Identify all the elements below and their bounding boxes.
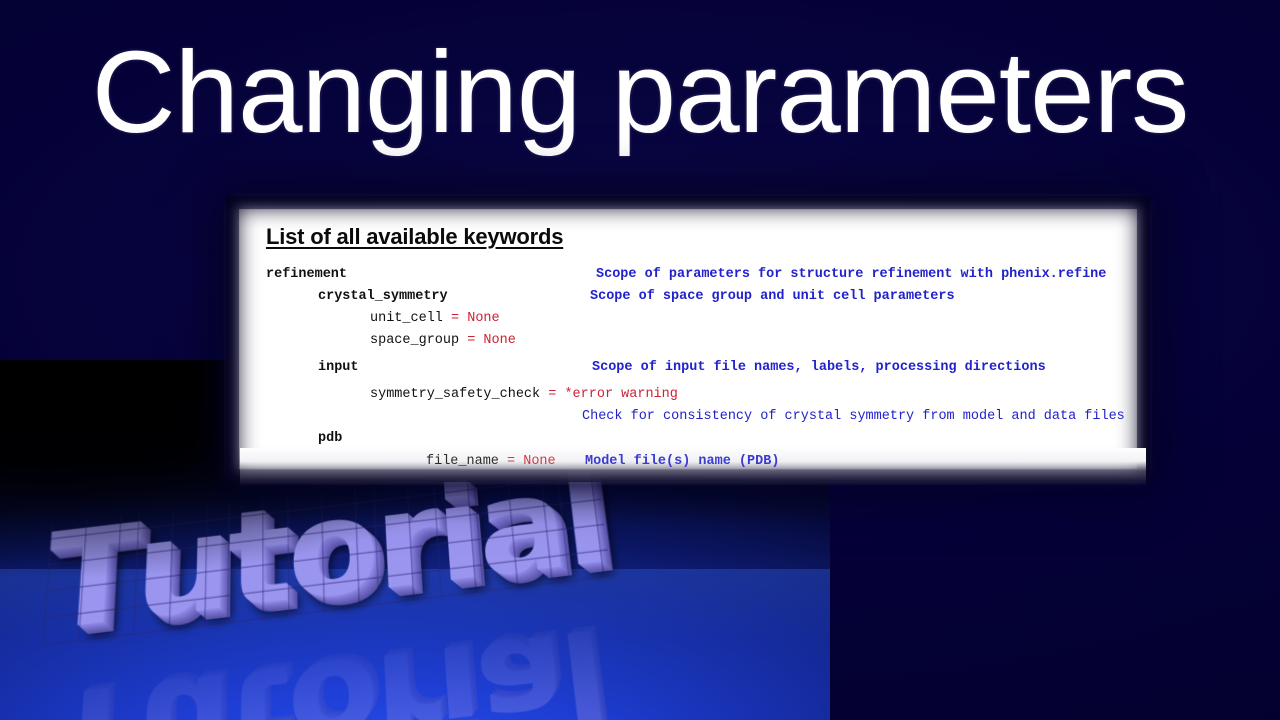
slide-canvas: Changing parameters Tutorial Tutorial Li… xyxy=(0,0,1280,720)
keyword-row: symmetry_safety_check = *error warning xyxy=(266,388,1118,410)
keyword-row: pdb xyxy=(266,432,1118,459)
keyword-row: refinementScope of parameters for struct… xyxy=(266,268,1118,290)
panel-heading: List of all available keywords xyxy=(266,224,1118,250)
keyword-value: = None xyxy=(459,333,516,348)
page-title: Changing parameters xyxy=(0,34,1280,150)
keyword-name: pdb xyxy=(318,432,342,446)
keyword-row: Check for consistency of crystal symmetr… xyxy=(266,410,1118,432)
keyword-value: = None xyxy=(443,311,500,326)
keyword-name: input xyxy=(318,361,359,375)
keyword-description: Scope of parameters for structure refine… xyxy=(596,268,1106,282)
keyword-row: unit_cell = None xyxy=(266,312,1118,334)
keyword-name: refinement xyxy=(266,268,347,282)
keyword-description: Scope of space group and unit cell param… xyxy=(590,290,955,304)
keyword-row: space_group = None xyxy=(266,334,1118,361)
keyword-row: crystal_symmetryScope of space group and… xyxy=(266,290,1118,312)
keyword-name: symmetry_safety_check = *error warning xyxy=(370,388,678,402)
keyword-row: inputScope of input file names, labels, … xyxy=(266,361,1118,388)
keyword-value: = *error warning xyxy=(540,387,678,402)
keyword-description: Check for consistency of crystal symmetr… xyxy=(582,410,1125,424)
keyword-name: unit_cell = None xyxy=(370,312,500,326)
keyword-name: space_group = None xyxy=(370,334,516,348)
keywords-screenshot-panel: List of all available keywords refinemen… xyxy=(240,210,1136,468)
keyword-description: Scope of input file names, labels, proce… xyxy=(592,361,1046,375)
keyword-name: crystal_symmetry xyxy=(318,290,448,304)
keyword-listing: refinementScope of parameters for struct… xyxy=(266,268,1118,459)
